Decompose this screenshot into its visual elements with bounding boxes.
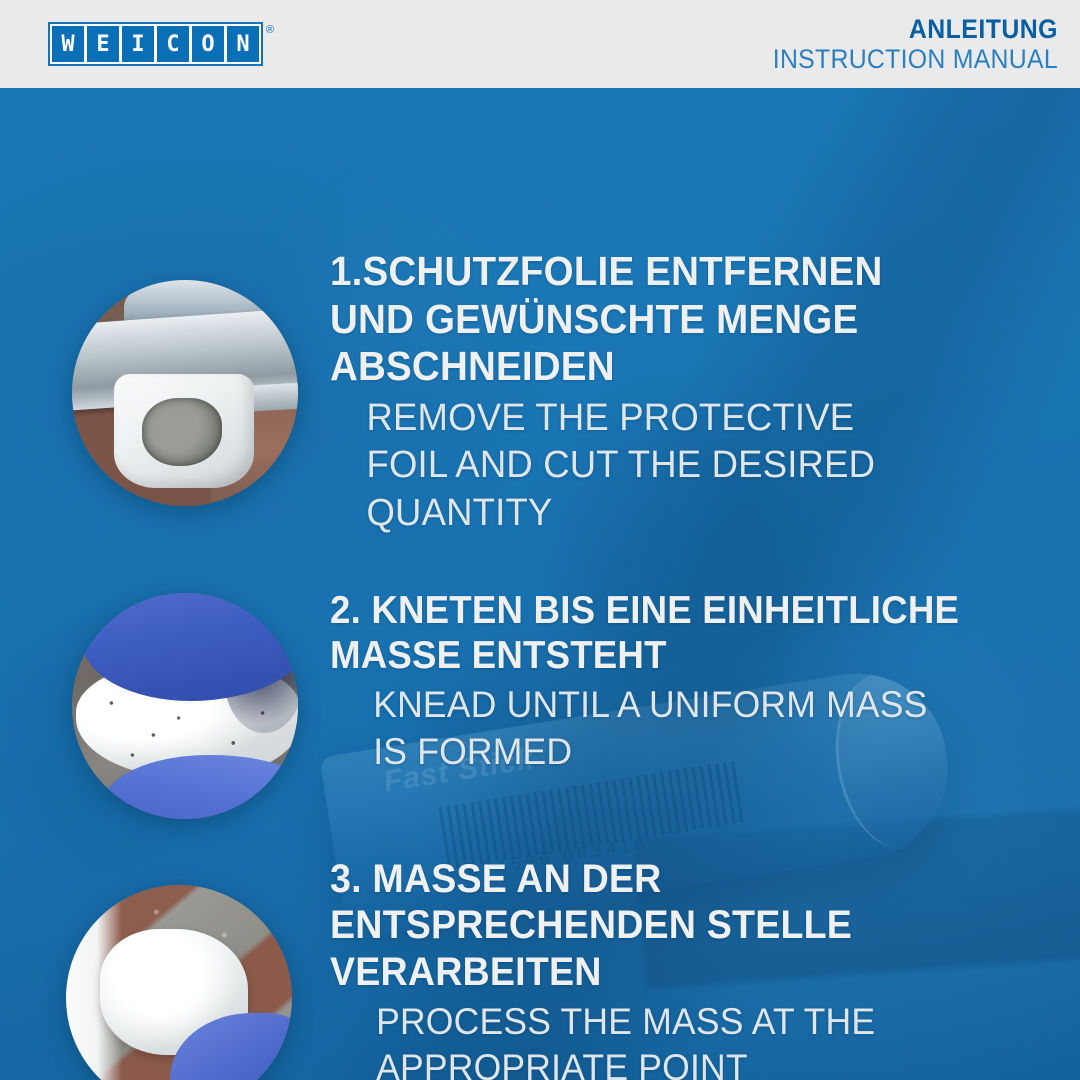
logo-letter-c: C <box>157 26 189 62</box>
step-1-text-de: 1.SCHUTZFOLIE ENTFERNEN UND GEWÜNSCHTE M… <box>330 248 988 391</box>
header-title-en: INSTRUCTION MANUAL <box>773 45 1058 73</box>
steps-list: 1.SCHUTZFOLIE ENTFERNEN UND GEWÜNSCHTE M… <box>0 88 1080 1080</box>
logo-letter-i: I <box>122 26 154 62</box>
step-2-text-en: KNEAD UNTIL A UNIFORM MASS IS FORMED <box>330 682 1021 775</box>
logo-letter-e: E <box>87 26 119 62</box>
step-2-text-de: 2. KNETEN BIS EINE EINHEITLICHE MASSE EN… <box>330 588 1007 678</box>
step-3-text-en: PROCESS THE MASS AT THE APPROPRIATE POIN… <box>330 999 983 1080</box>
step-item-1: 1.SCHUTZFOLIE ENTFERNEN UND GEWÜNSCHTE M… <box>330 248 1030 537</box>
content-area: Fast Stick 4 024596 003418 <box>0 88 1080 1080</box>
step-item-3: 3. MASSE AN DER ENTSPRECHENDEN STELLE VE… <box>330 856 1010 1080</box>
logo-letter-w: W <box>52 26 84 62</box>
step-3-text-de: 3. MASSE AN DER ENTSPRECHENDEN STELLE VE… <box>330 856 969 995</box>
header-title-block: ANLEITUNG INSTRUCTION MANUAL <box>748 15 1058 74</box>
logo-box: W E I C O N <box>48 22 263 66</box>
logo-letter-n: N <box>227 26 259 62</box>
step-1-text-en: REMOVE THE PROTECTIVE FOIL AND CUT THE D… <box>330 395 1002 538</box>
instruction-manual-page: W E I C O N ® ANLEITUNG INSTRUCTION MANU… <box>0 0 1080 1080</box>
registered-trademark-icon: ® <box>266 24 274 36</box>
weicon-logo: W E I C O N ® <box>48 22 274 66</box>
step-item-2: 2. KNETEN BIS EINE EINHEITLICHE MASSE EN… <box>330 588 1050 775</box>
logo-letter-cells: W E I C O N <box>52 26 259 62</box>
header-title-de: ANLEITUNG <box>773 15 1058 43</box>
logo-letter-o: O <box>192 26 224 62</box>
page-header: W E I C O N ® ANLEITUNG INSTRUCTION MANU… <box>0 0 1080 88</box>
